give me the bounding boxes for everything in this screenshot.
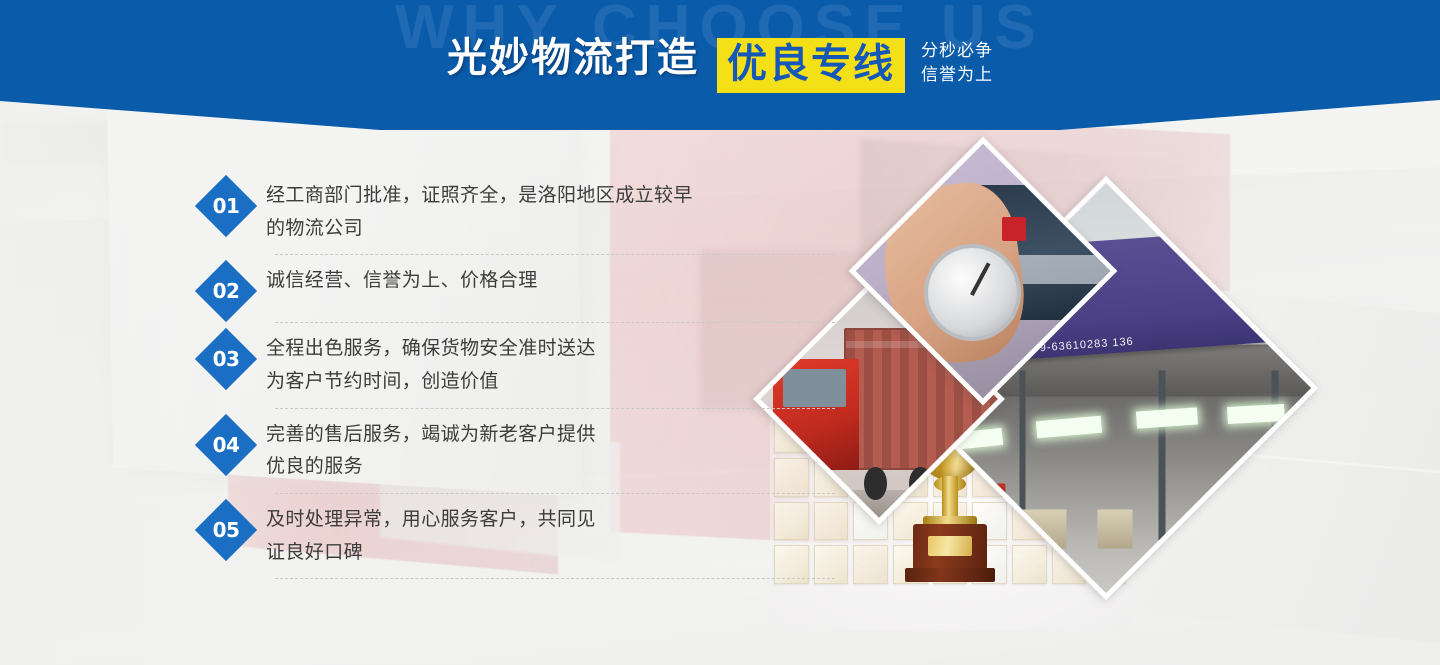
feature-line: 的物流公司: [266, 213, 840, 246]
tagline-line-2: 信誉为上: [921, 63, 993, 87]
feature-list: 01 经工商部门批准，证照齐全，是洛阳地区成立较早 的物流公司 02 诚信经营、…: [200, 178, 840, 587]
feature-text-01: 经工商部门批准，证照齐全，是洛阳地区成立较早 的物流公司: [266, 178, 840, 245]
warehouse-beam: [1271, 371, 1278, 554]
feature-line: 完善的售后服务，竭诚为新老客户提供: [266, 419, 840, 452]
feature-text-03: 全程出色服务，确保货物安全准时送达 为客户节约时间，创造价值: [266, 331, 840, 398]
feature-item-04: 04 完善的售后服务，竭诚为新老客户提供 优良的服务: [200, 417, 840, 494]
photo-collage: 新江全 电话：0379-63610283 136: [760, 130, 1440, 650]
feature-line: 证良好口碑: [266, 537, 840, 570]
feature-item-01: 01 经工商部门批准，证照齐全，是洛阳地区成立较早 的物流公司: [200, 178, 840, 255]
trophy-nameplate: [928, 536, 972, 556]
header-content: 光妙物流打造 优良专线 分秒必争 信誉为上: [0, 0, 1440, 132]
trophy-stem: [942, 476, 958, 520]
diamond-badge-01: 01: [195, 175, 257, 237]
diamond-badge-02: 02: [195, 260, 257, 322]
feature-item-03: 03 全程出色服务，确保货物安全准时送达 为客户节约时间，创造价值: [200, 331, 840, 408]
feature-item-05: 05 及时处理异常，用心服务客户，共同见 证良好口碑: [200, 502, 840, 579]
feature-text-02: 诚信经营、信誉为上、价格合理: [266, 263, 840, 298]
feature-item-02: 02 诚信经营、信誉为上、价格合理: [200, 263, 840, 323]
certificate: [1012, 545, 1047, 584]
stopwatch-face: [924, 244, 1021, 341]
feature-number: 03: [204, 337, 248, 381]
feature-number: 04: [204, 423, 248, 467]
header-band: WHY CHOOSE US 光妙物流打造 优良专线 分秒必争 信誉为上: [0, 0, 1440, 132]
feature-number: 05: [204, 508, 248, 552]
stopwatch-crown: [1002, 217, 1026, 241]
feature-number: 01: [204, 184, 248, 228]
warehouse-beam: [1158, 371, 1165, 554]
tagline-line-1: 分秒必争: [921, 39, 993, 63]
warehouse-light: [1227, 404, 1284, 424]
header-tagline: 分秒必争 信誉为上: [921, 39, 993, 87]
feature-line: 全程出色服务，确保货物安全准时送达: [266, 333, 840, 366]
warehouse-pallet: [1097, 510, 1132, 549]
feature-number: 02: [204, 269, 248, 313]
page-title: 光妙物流打造: [447, 38, 699, 78]
feature-line: 诚信经营、信誉为上、价格合理: [266, 265, 840, 298]
title-highlight-badge: 优良专线: [717, 38, 905, 93]
feature-line: 及时处理异常，用心服务客户，共同见: [266, 504, 840, 537]
feature-line: 经工商部门批准，证照齐全，是洛阳地区成立较早: [266, 180, 840, 213]
feature-text-04: 完善的售后服务，竭诚为新老客户提供 优良的服务: [266, 417, 840, 484]
feature-line: 为客户节约时间，创造价值: [266, 366, 840, 399]
feature-line: 优良的服务: [266, 451, 840, 484]
diamond-badge-05: 05: [195, 499, 257, 561]
diamond-badge-03: 03: [195, 328, 257, 390]
truck-wheel: [864, 467, 887, 500]
certificate: [853, 545, 888, 584]
trophy-foot: [905, 568, 995, 582]
diamond-badge-04: 04: [195, 414, 257, 476]
promo-banner: 新江全 电话：0379-63610283 136: [0, 0, 1440, 665]
feature-text-05: 及时处理异常，用心服务客户，共同见 证良好口碑: [266, 502, 840, 569]
